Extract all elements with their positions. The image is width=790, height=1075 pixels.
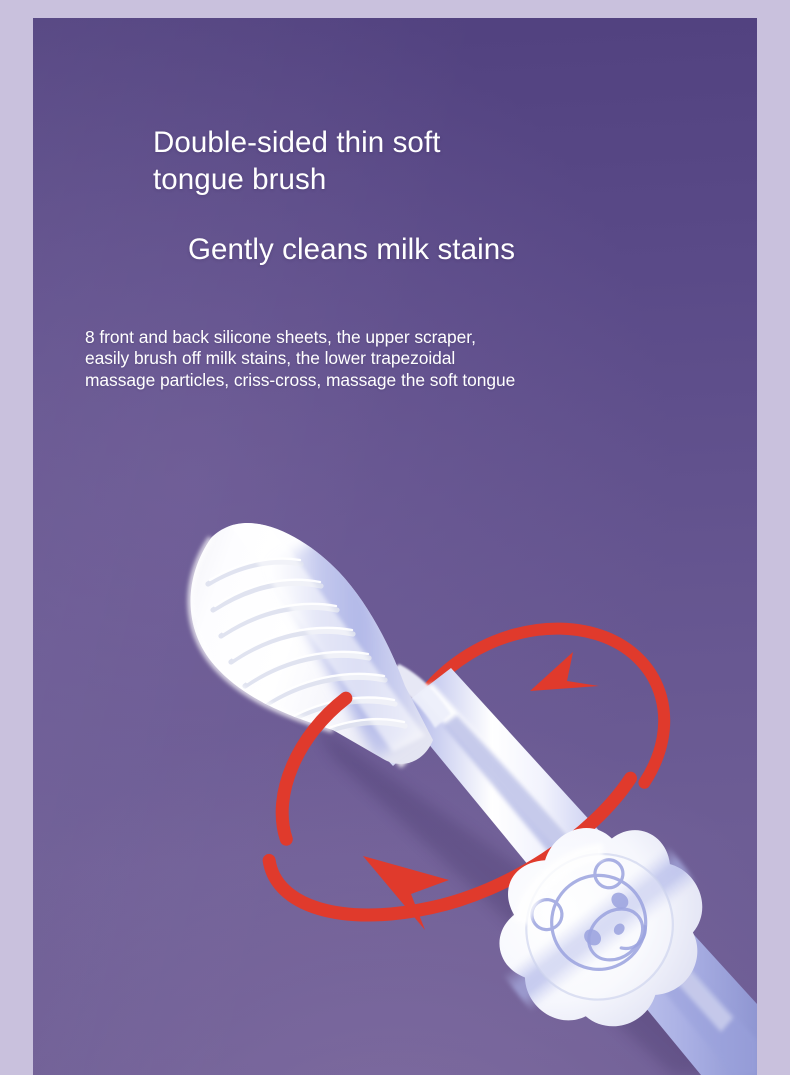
subheading-text: Gently cleans milk stains [188,233,515,266]
rotation-arrowhead-top [530,652,599,691]
subheading: Gently cleans milk stains [188,231,748,269]
body-line-2: easily brush off milk stains, the lower … [85,348,745,369]
purple-panel: Double-sided thin soft tongue brush Gent… [33,18,757,1075]
headline-line-2: tongue brush [153,163,326,196]
product-feature-image: Double-sided thin soft tongue brush Gent… [0,0,790,1075]
brush-head [175,510,437,764]
body-line-1: 8 front and back silicone sheets, the up… [85,327,745,348]
page-title: Double-sided thin soft tongue brush [153,124,713,198]
headline-line-1: Double-sided thin soft [153,126,441,159]
body-description: 8 front and back silicone sheets, the up… [85,327,745,391]
body-line-3: massage particles, criss-cross, massage … [85,370,745,391]
